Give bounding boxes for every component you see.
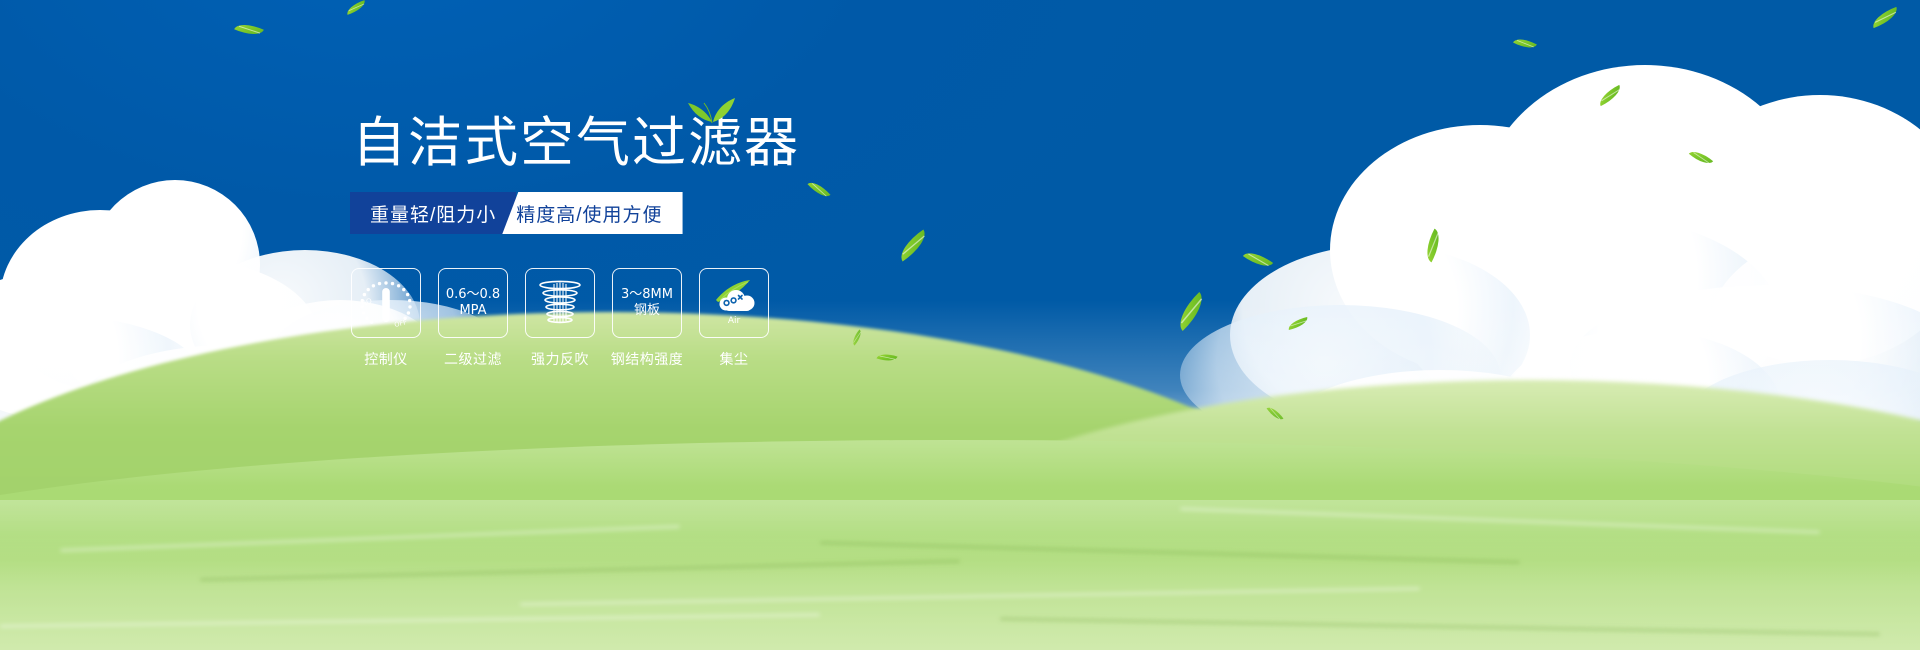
feature-item-dust: Air 集尘 (700, 268, 768, 369)
svg-text:NO: NO (360, 296, 374, 308)
tab-weight-resistance[interactable]: 重量轻/阻力小 (350, 192, 516, 234)
feature-label-controller: 控制仪 (364, 349, 408, 369)
air-cloud-icon: Air (699, 268, 769, 338)
feature-label-dust: 集尘 (720, 349, 749, 369)
tab-precision-convenience[interactable]: 精度高/使用方便 (502, 192, 682, 234)
feature-item-blowback: 强力反吹 (526, 268, 594, 369)
air-caption: Air (728, 316, 741, 326)
feature-label-blowback: 强力反吹 (531, 349, 589, 369)
product-banner: 自洁式空气过滤器 重量轻/阻力小 精度高/使用方便 (0, 0, 1920, 650)
steel-value-line-1: 3～8MM (621, 287, 673, 303)
feature-item-steel: 3～8MM 钢板 钢结构强度 (613, 268, 681, 369)
leaf-pair-icon (682, 90, 742, 124)
feature-list: NO OFF 控制仪 0.6～0.8 MPA 二级过滤 (352, 268, 768, 369)
banner-content: 自洁式空气过滤器 重量轻/阻力小 精度高/使用方便 (0, 0, 1920, 650)
filter-cartridge-icon (525, 268, 595, 338)
gauge-dial-icon: NO OFF (351, 268, 421, 338)
steel-value-line-2: 钢板 (634, 303, 660, 319)
feature-tabs: 重量轻/阻力小 精度高/使用方便 (350, 192, 683, 234)
title-block: 自洁式空气过滤器 (352, 112, 800, 174)
feature-label-pressure: 二级过滤 (444, 349, 502, 369)
svg-text:OFF: OFF (394, 318, 408, 329)
pressure-value-line-1: 0.6～0.8 (446, 287, 500, 303)
pressure-value-line-2: MPA (459, 303, 486, 319)
feature-label-steel: 钢结构强度 (611, 349, 684, 369)
pressure-text-icon: 0.6～0.8 MPA (438, 268, 508, 338)
feature-item-pressure: 0.6～0.8 MPA 二级过滤 (439, 268, 507, 369)
feature-item-controller: NO OFF 控制仪 (352, 268, 420, 369)
steel-plate-text-icon: 3～8MM 钢板 (612, 268, 682, 338)
